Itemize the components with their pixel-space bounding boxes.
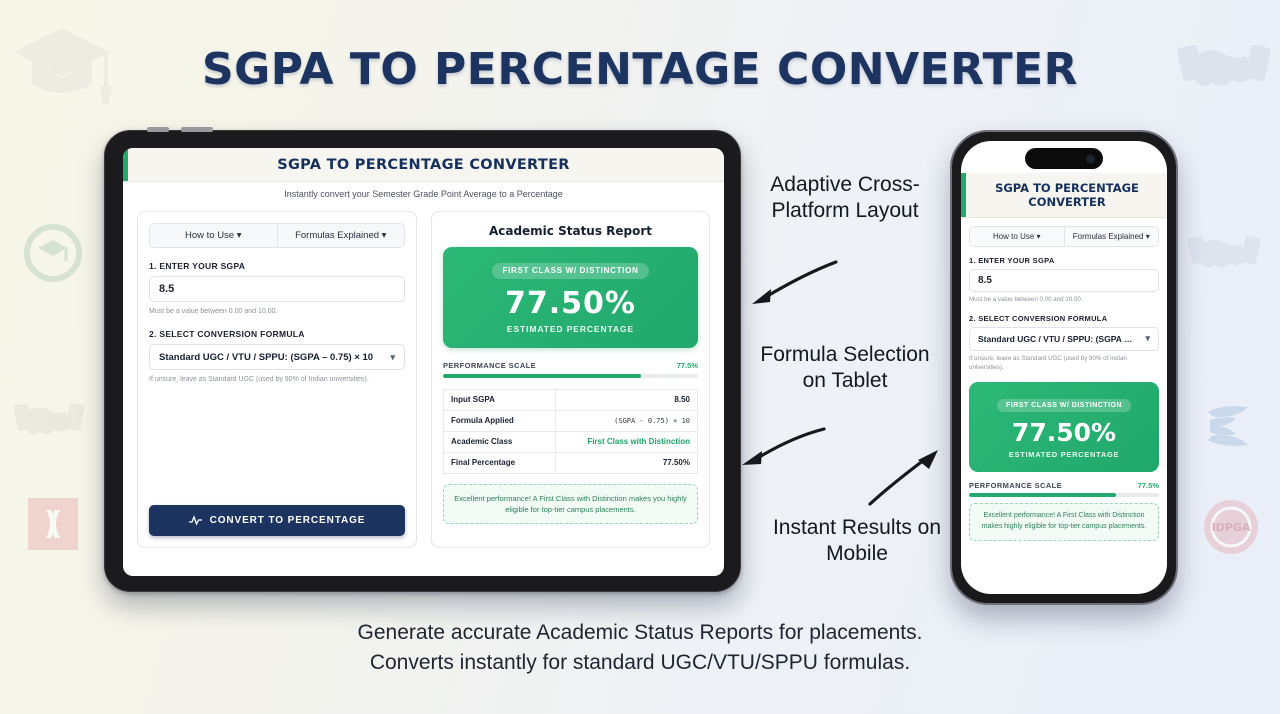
arrow-to-tablet-bottom <box>736 425 832 473</box>
table-cell-value: 8.50 <box>555 389 697 410</box>
phone-status-badge: FIRST CLASS W/ DISTINCTION <box>997 399 1131 412</box>
phone-advice-note: Excellent performance! A First Class wit… <box>969 503 1159 541</box>
table-row: Final Percentage77.50% <box>444 452 698 473</box>
results-table-body: Input SGPA8.50Formula Applied(SGPA - 0.7… <box>444 389 698 473</box>
phone-sgpa-hint: Must be a value between 0.00 and 10.00. <box>969 296 1159 305</box>
tab-how-to-use[interactable]: How to Use ▾ <box>150 224 277 247</box>
phone-sgpa-input[interactable]: 8.5 <box>969 269 1159 292</box>
phone-result-percentage-caption: ESTIMATED PERCENTAGE <box>977 450 1151 459</box>
table-row: Academic ClassFirst Class with Distincti… <box>444 431 698 452</box>
phone-result-percentage: 77.50% <box>977 418 1151 447</box>
phone-formula-field-label: 2. SELECT CONVERSION FORMULA <box>969 314 1159 323</box>
convert-to-percentage-button[interactable]: CONVERT TO PERCENTAGE <box>149 505 405 536</box>
advice-note: Excellent performance! A First Class wit… <box>443 484 698 525</box>
phone-notch <box>1025 148 1103 169</box>
app-subtitle: Instantly convert your Semester Grade Po… <box>123 182 724 199</box>
handshake-watermark-right <box>1188 222 1260 284</box>
table-cell-key: Academic Class <box>444 431 556 452</box>
pink-square-logo-watermark <box>28 498 78 550</box>
phone-device-mockup: SGPA TO PERCENTAGE CONVERTER How to Use … <box>950 130 1178 605</box>
svg-text:IDPGA: IDPGA <box>1212 521 1251 534</box>
tablet-screen: SGPA TO PERCENTAGE CONVERTER Instantly c… <box>123 148 724 576</box>
sgpa-hint: Must be a value between 0.00 and 10.00. <box>149 307 405 316</box>
phone-sgpa-field-label: 1. ENTER YOUR SGPA <box>969 256 1159 265</box>
footer-caption: Generate accurate Academic Status Report… <box>0 618 1280 678</box>
result-percentage: 77.50% <box>453 286 688 321</box>
phone-formula-hint: If unsure, leave as Standard UGC (used b… <box>969 355 1159 373</box>
tablet-content: How to Use ▾ Formulas Explained ▾ 1. ENT… <box>123 199 724 548</box>
phone-tab-formulas-explained[interactable]: Formulas Explained ▾ <box>1064 227 1159 246</box>
phone-content: How to Use ▾ Formulas Explained ▾ 1. ENT… <box>961 218 1167 541</box>
result-percentage-caption: ESTIMATED PERCENTAGE <box>453 324 688 334</box>
sgpa-field-label: 1. ENTER YOUR SGPA <box>149 261 405 271</box>
chevron-down-icon: ▾ <box>390 352 395 363</box>
graduation-circle-logo-watermark <box>18 218 88 288</box>
annotation-formula-selection: Formula Selection on Tablet <box>760 342 930 394</box>
performance-scale-track <box>443 374 698 378</box>
convert-button-label: CONVERT TO PERCENTAGE <box>210 515 366 526</box>
footer-caption-line-1: Generate accurate Academic Status Report… <box>0 618 1280 648</box>
blue-e-logo-watermark <box>1200 398 1256 454</box>
annotation-instant-results: Instant Results on Mobile <box>764 515 950 567</box>
performance-scale-value: 77.5% <box>677 361 698 370</box>
table-row: Formula Applied(SGPA - 0.75) × 10 <box>444 410 698 431</box>
info-tabs: How to Use ▾ Formulas Explained ▾ <box>149 223 405 248</box>
performance-scale-label: PERFORMANCE SCALE <box>443 361 536 370</box>
phone-performance-scale-value: 77.5% <box>1138 481 1159 490</box>
input-panel: How to Use ▾ Formulas Explained ▾ 1. ENT… <box>137 211 417 548</box>
formula-select[interactable]: Standard UGC / VTU / SPPU: (SGPA – 0.75)… <box>149 344 405 370</box>
result-card: FIRST CLASS W/ DISTINCTION 77.50% ESTIMA… <box>443 247 698 348</box>
app-title: SGPA TO PERCENTAGE CONVERTER <box>123 157 724 173</box>
chevron-down-icon-phone: ▾ <box>1145 333 1150 344</box>
sgpa-input[interactable]: 8.5 <box>149 276 405 302</box>
tablet-app-header: SGPA TO PERCENTAGE CONVERTER <box>123 148 724 182</box>
formula-field-label: 2. SELECT CONVERSION FORMULA <box>149 329 405 339</box>
tablet-device-mockup: SGPA TO PERCENTAGE CONVERTER Instantly c… <box>104 130 741 592</box>
phone-app-title: SGPA TO PERCENTAGE CONVERTER <box>973 181 1161 209</box>
table-cell-key: Final Percentage <box>444 452 556 473</box>
report-panel: Academic Status Report FIRST CLASS W/ DI… <box>431 211 710 548</box>
arrow-to-tablet-top <box>744 258 840 310</box>
phone-formula-select-value: Standard UGC / VTU / SPPU: (SGPA … <box>978 334 1132 344</box>
phone-tab-how-to-use[interactable]: How to Use ▾ <box>970 227 1064 246</box>
green-accent-bar-phone <box>961 173 966 217</box>
phone-performance-scale-row: PERFORMANCE SCALE 77.5% <box>969 481 1159 490</box>
phone-app-header: SGPA TO PERCENTAGE CONVERTER <box>961 173 1167 218</box>
phone-result-card: FIRST CLASS W/ DISTINCTION 77.50% ESTIMA… <box>969 382 1159 472</box>
phone-performance-scale-track <box>969 493 1159 497</box>
formula-hint: If unsure, leave as Standard UGC (used b… <box>149 375 405 384</box>
table-row: Input SGPA8.50 <box>444 389 698 410</box>
results-table: Input SGPA8.50Formula Applied(SGPA - 0.7… <box>443 389 698 474</box>
phone-formula-select[interactable]: Standard UGC / VTU / SPPU: (SGPA … ▾ <box>969 327 1159 351</box>
idpga-logo-watermark: IDPGA <box>1202 498 1260 556</box>
phone-screen: SGPA TO PERCENTAGE CONVERTER How to Use … <box>961 141 1167 594</box>
phone-performance-scale-label: PERFORMANCE SCALE <box>969 481 1062 490</box>
table-cell-value: First Class with Distinction <box>555 431 697 452</box>
annotation-adaptive-layout: Adaptive Cross-Platform Layout <box>755 172 935 224</box>
handshake-watermark-left <box>14 390 84 450</box>
performance-scale-fill <box>443 374 641 378</box>
phone-performance-scale-fill <box>969 493 1116 497</box>
table-cell-key: Input SGPA <box>444 389 556 410</box>
report-title: Academic Status Report <box>443 224 698 238</box>
table-cell-value: 77.50% <box>555 452 697 473</box>
table-cell-value: (SGPA - 0.75) × 10 <box>555 410 697 431</box>
phone-info-tabs: How to Use ▾ Formulas Explained ▾ <box>969 226 1159 247</box>
front-camera-icon <box>1086 154 1095 163</box>
status-badge: FIRST CLASS W/ DISTINCTION <box>492 263 650 279</box>
tab-formulas-explained[interactable]: Formulas Explained ▾ <box>277 224 405 247</box>
arrow-to-phone <box>862 438 944 508</box>
table-cell-key: Formula Applied <box>444 410 556 431</box>
formula-select-value: Standard UGC / VTU / SPPU: (SGPA – 0.75)… <box>159 352 373 363</box>
performance-scale-row: PERFORMANCE SCALE 77.5% <box>443 361 698 370</box>
pulse-icon <box>189 515 202 526</box>
footer-caption-line-2: Converts instantly for standard UGC/VTU/… <box>0 648 1280 678</box>
green-accent-bar <box>123 148 128 181</box>
page-title: SGPA TO PERCENTAGE CONVERTER <box>0 44 1280 95</box>
